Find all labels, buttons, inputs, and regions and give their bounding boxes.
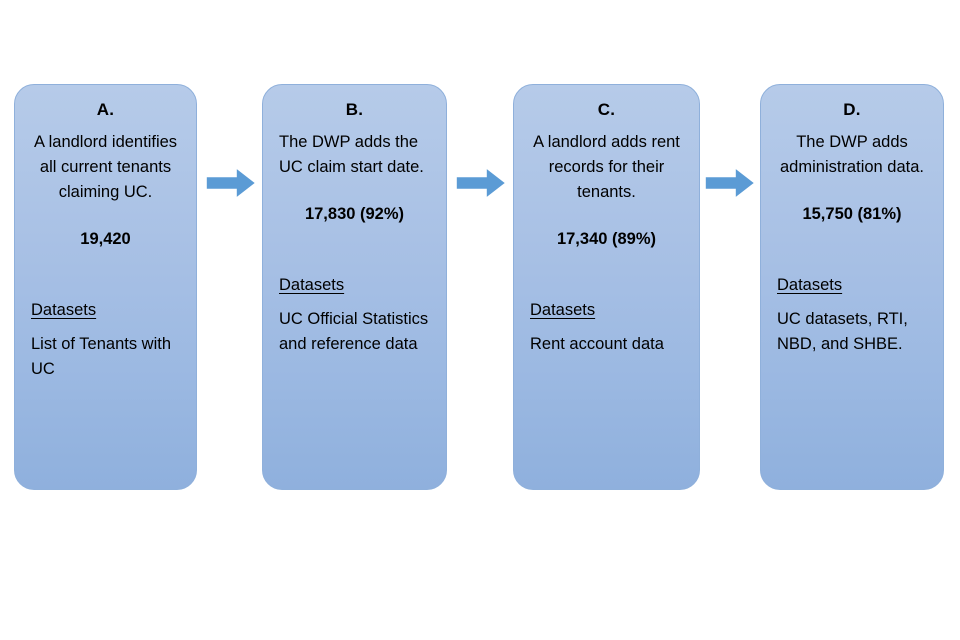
step-letter-c: C. <box>530 99 683 121</box>
step-description-b: The DWP adds the UC claim start date. <box>279 130 430 180</box>
step-letter-d: D. <box>777 99 927 121</box>
spacer <box>279 180 430 202</box>
datasets-heading-a: Datasets <box>31 298 180 322</box>
datasets-list-a: List of Tenants with UC <box>31 332 180 382</box>
process-step-c[interactable]: C. A landlord adds rent records for thei… <box>513 84 700 490</box>
step-count-a: 19,420 <box>31 227 180 252</box>
spacer <box>777 180 927 202</box>
datasets-heading-c: Datasets <box>530 298 683 322</box>
spacer <box>530 252 683 298</box>
datasets-list-b: UC Official Statistics and reference dat… <box>279 307 430 357</box>
datasets-list-c: Rent account data <box>530 332 683 357</box>
datasets-heading-b: Datasets <box>279 273 430 297</box>
step-count-d: 15,750 (81%) <box>777 202 927 227</box>
spacer <box>530 205 683 227</box>
datasets-heading-d: Datasets <box>777 273 927 297</box>
spacer <box>31 205 180 227</box>
process-step-a[interactable]: A. A landlord identifies all current ten… <box>14 84 197 490</box>
step-letter-a: A. <box>31 99 180 121</box>
step-description-c: A landlord adds rent records for their t… <box>530 130 683 205</box>
step-letter-b: B. <box>279 99 430 121</box>
spacer <box>31 252 180 298</box>
process-step-d[interactable]: D. The DWP adds administration data. 15,… <box>760 84 944 490</box>
flowchart-canvas: A. A landlord identifies all current ten… <box>0 0 960 640</box>
spacer <box>777 227 927 273</box>
datasets-list-d: UC datasets, RTI, NBD, and SHBE. <box>777 307 927 357</box>
process-step-b[interactable]: B. The DWP adds the UC claim start date.… <box>262 84 447 490</box>
step-count-c: 17,340 (89%) <box>530 227 683 252</box>
step-count-b: 17,830 (92%) <box>279 202 430 227</box>
spacer <box>279 227 430 273</box>
right-arrow-icon <box>455 166 507 200</box>
right-arrow-icon <box>704 166 756 200</box>
right-arrow-icon <box>205 166 257 200</box>
step-description-d: The DWP adds administration data. <box>777 130 927 180</box>
step-description-a: A landlord identifies all current tenant… <box>31 130 180 205</box>
